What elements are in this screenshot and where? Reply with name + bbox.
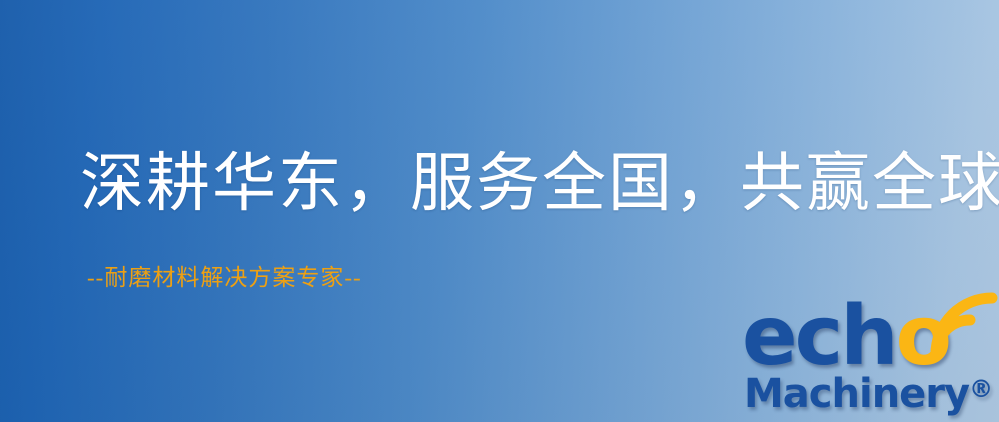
logo-tagline: Machinery® bbox=[744, 374, 993, 414]
logo-wordmark: echo bbox=[742, 296, 949, 378]
hero-banner: 深耕华东，服务全国，共赢全球 --耐磨材料解决方案专家-- echo Machi… bbox=[0, 0, 999, 422]
logo-word-ech: ech bbox=[742, 289, 896, 384]
signal-waves-icon bbox=[920, 292, 999, 366]
banner-headline: 深耕华东，服务全国，共赢全球 bbox=[80, 152, 999, 216]
registered-trademark-icon: ® bbox=[969, 375, 993, 403]
banner-subtitle: --耐磨材料解决方案专家-- bbox=[87, 266, 362, 289]
echo-machinery-logo[interactable]: echo Machinery® bbox=[742, 296, 999, 422]
logo-tagline-text: Machinery bbox=[744, 371, 969, 417]
